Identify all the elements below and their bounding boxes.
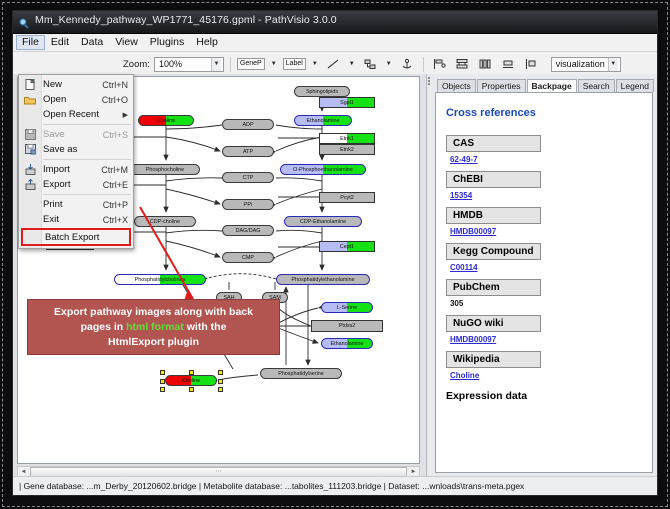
xref-value: 305 [450, 299, 652, 308]
visualization-value: visualization [556, 59, 605, 69]
new-file-icon [23, 79, 37, 91]
menu-item-label: Import [43, 164, 70, 175]
metabolite-node[interactable]: CTP [222, 172, 274, 183]
menu-item-save: SaveCtrl+S [19, 127, 133, 142]
visualization-combobox[interactable]: visualization ▼ [551, 57, 621, 72]
align-left-icon[interactable] [430, 55, 449, 74]
metabolite-node[interactable]: Phosphocholine [130, 164, 200, 175]
metabolite-node[interactable]: Ethanolamine [321, 338, 373, 349]
scroll-left-icon[interactable]: ◄ [18, 469, 29, 475]
distribute-icon[interactable] [476, 55, 495, 74]
node-label: Etnk1 [340, 136, 354, 142]
banner-line-2-pre: pages in [81, 321, 127, 333]
order-icon[interactable] [522, 55, 541, 74]
menu-help[interactable]: Help [190, 35, 224, 50]
menu-plugins[interactable]: Plugins [144, 35, 190, 50]
node-label: Phosphatidylethanolamine [291, 277, 354, 283]
metabolite-node[interactable]: CDP-Ethanolamine [284, 216, 362, 227]
anchor-tool-icon[interactable] [398, 55, 417, 74]
menu-item-label: Open Recent [43, 109, 99, 120]
menu-item-label: Exit [43, 214, 59, 225]
xref-cas: CAS62-49-7 [446, 133, 652, 164]
xref-link[interactable]: HMDB00097 [450, 335, 496, 344]
side-panel-tabs: Objects Properties Backpage Search Legen… [431, 78, 654, 92]
xref-hmdb: HMDBHMDB00097 [446, 205, 652, 236]
chevron-down-icon: ▼ [211, 58, 221, 71]
folder-open-icon [23, 94, 37, 106]
menu-item-export[interactable]: ExportCtrl+E [19, 177, 133, 192]
xref-kegg-compound: Kegg CompoundC00114 [446, 241, 652, 272]
banner-line-1: Export pathway images along with back [54, 306, 253, 318]
node-label: Ptdss2 [339, 323, 355, 329]
screenshot-frame: Mm_Kennedy_pathway_WP1771_45176.gpml - P… [0, 0, 670, 509]
cross-references-heading: Cross references [446, 107, 652, 119]
node-label: O-Phosphoethanolamine [293, 167, 353, 173]
zoom-combobox[interactable]: 100% ▼ [154, 57, 224, 72]
metabolite-node[interactable]: Phosphatidylserine [260, 368, 342, 379]
node-label: ATP [243, 149, 253, 155]
node-label: Cept1 [340, 244, 354, 250]
xref-name: NuGO wiki [446, 315, 541, 332]
expression-data-heading: Expression data [446, 390, 652, 402]
panel-drag-handle[interactable] [428, 76, 433, 88]
xref-name: Kegg Compound [446, 243, 541, 260]
node-label: CTP [243, 175, 254, 181]
scroll-right-icon[interactable]: ► [408, 469, 419, 475]
export-icon [23, 179, 37, 191]
menu-item-batch-export[interactable]: Batch Export [21, 228, 131, 246]
menu-item-print[interactable]: PrintCtrl+P [19, 197, 133, 212]
metabolite-node[interactable]: O-Phosphoethanolamine [280, 164, 366, 175]
cross-reference-list: CAS62-49-7ChEBI15354HMDBHMDB00097Kegg Co… [446, 133, 652, 380]
banner-line-3: HtmlExport plugin [108, 336, 199, 348]
xref-value[interactable]: 62-49-7 [450, 155, 652, 164]
menu-separator [43, 194, 131, 195]
menu-item-open-recent[interactable]: Open Recent▶ [19, 107, 133, 122]
datanode-dropdown-icon[interactable]: ▼ [269, 61, 279, 67]
metabolite-node[interactable]: CMP [222, 252, 274, 263]
import-icon [23, 164, 37, 176]
menu-item-label: New [43, 79, 62, 90]
xref-value[interactable]: C00114 [450, 263, 652, 272]
xref-name: PubChem [446, 279, 541, 296]
pathvisio-application-window: Mm_Kennedy_pathway_WP1771_45176.gpml - P… [12, 10, 658, 496]
node-label: Etnk2 [340, 147, 354, 153]
metabolite-node[interactable]: CDP-choline [134, 216, 196, 227]
menu-item-save-as[interactable]: Save as [19, 142, 133, 157]
line-tool-icon[interactable] [324, 55, 343, 74]
menu-item-accelerator: Ctrl+O [102, 95, 128, 105]
menu-item-label: Open [43, 94, 66, 105]
pathvisio-app-icon [19, 16, 30, 27]
side-panel: Objects Properties Backpage Search Legen… [427, 74, 657, 477]
banner-line-2-highlight: html format [126, 321, 184, 333]
node-label: Sgpl1 [340, 100, 354, 106]
menu-item-accelerator: Ctrl+S [103, 130, 128, 140]
xref-value[interactable]: HMDB00097 [450, 227, 652, 236]
window-title-text: Mm_Kennedy_pathway_WP1771_45176.gpml - P… [35, 14, 337, 26]
gene-node[interactable]: Ptdss2 [311, 320, 383, 332]
zoom-value: 100% [159, 59, 182, 69]
menu-separator [43, 159, 131, 160]
metabolite-node[interactable]: L-Serine [321, 302, 373, 313]
interaction-dropdown-icon[interactable]: ▼ [384, 61, 394, 67]
gene-node[interactable]: Etnk2 [319, 144, 375, 155]
xref-value[interactable]: Choline [450, 371, 652, 380]
menu-item-import[interactable]: ImportCtrl+M [19, 162, 133, 177]
menu-item-label: Print [43, 199, 63, 210]
menu-file[interactable]: File [16, 35, 45, 50]
submenu-arrow-icon: ▶ [123, 111, 128, 119]
node-label: Phosphatidylcholines [135, 277, 186, 283]
node-label: Phosphatidylserine [278, 371, 324, 377]
align-stack-icon[interactable] [453, 55, 472, 74]
xref-link[interactable]: C00114 [450, 263, 478, 272]
metabolite-node[interactable]: Phosphatidylethanolamine [276, 274, 370, 285]
gene-node[interactable]: Pcyt2 [319, 192, 375, 203]
backpage-content: Cross references CAS62-49-7ChEBI15354HMD… [435, 92, 653, 473]
window-title-bar: Mm_Kennedy_pathway_WP1771_45176.gpml - P… [13, 11, 657, 34]
save-disk-icon [23, 129, 37, 141]
gene-node[interactable]: Sgpl1 [319, 97, 375, 108]
xref-chebi: ChEBI15354 [446, 169, 652, 200]
file-menu-dropdown: NewCtrl+NOpenCtrl+OOpen Recent▶SaveCtrl+… [18, 74, 134, 249]
menu-data[interactable]: Data [75, 35, 109, 50]
tab-properties[interactable]: Properties [477, 79, 526, 92]
xref-name: HMDB [446, 207, 541, 224]
menu-item-label: Save [43, 129, 65, 140]
xref-link[interactable]: 15354 [450, 191, 472, 200]
zoom-label: Zoom: [123, 59, 150, 70]
node-label: CMP [242, 255, 254, 261]
xref-link[interactable]: Choline [450, 371, 479, 380]
menu-item-accelerator: Ctrl+P [103, 200, 128, 210]
menu-item-open[interactable]: OpenCtrl+O [19, 92, 133, 107]
tab-search[interactable]: Search [578, 79, 615, 92]
metabolite-node[interactable]: Phosphatidylcholines [114, 274, 206, 285]
xref-wikipedia: WikipediaCholine [446, 349, 652, 380]
label-dropdown-icon[interactable]: ▼ [310, 61, 320, 67]
selection-handles[interactable] [162, 372, 220, 389]
node-label: Ethanolamine [307, 118, 340, 124]
menu-item-accelerator: Ctrl+X [103, 215, 128, 225]
node-label: Phosphocholine [146, 167, 184, 173]
menu-item-accelerator: Ctrl+N [102, 80, 128, 90]
chevron-down-icon-2: ▼ [608, 58, 618, 71]
metabolite-node[interactable]: Ethanolamine [294, 115, 352, 126]
metabolite-node[interactable]: Sphingolipids [294, 86, 350, 97]
tab-objects[interactable]: Objects [437, 79, 476, 92]
node-label: ADP [242, 122, 253, 128]
menu-item-label: Save as [43, 144, 77, 155]
xref-name: Wikipedia [446, 351, 541, 368]
scrollbar-thumb[interactable]: ⋯ [30, 467, 407, 477]
menu-separator [43, 124, 131, 125]
annotation-banner: Export pathway images along with back pa… [27, 299, 280, 355]
menu-bar: File Edit Data View Plugins Help [13, 34, 657, 52]
file-menu-items: NewCtrl+NOpenCtrl+OOpen Recent▶SaveCtrl+… [19, 77, 133, 227]
line-dropdown-icon[interactable]: ▼ [347, 61, 357, 67]
toolbar-separator-2 [423, 57, 424, 72]
save-as-icon [23, 144, 37, 156]
metabolite-node[interactable]: PPi [222, 199, 274, 210]
xref-nugo-wiki: NuGO wikiHMDB00097 [446, 313, 652, 344]
node-label: CDP-Ethanolamine [300, 219, 346, 225]
metabolite-node[interactable]: ATP [222, 146, 274, 157]
xref-value[interactable]: 15354 [450, 191, 652, 200]
xref-name: CAS [446, 135, 541, 152]
node-label: Pcyt2 [340, 195, 353, 201]
group-icon[interactable] [499, 55, 518, 74]
node-label: L-Serine [337, 305, 357, 311]
xref-name: ChEBI [446, 171, 541, 188]
status-bar-text: | Gene database: ...m_Derby_20120602.bri… [19, 481, 524, 491]
metabolite-node[interactable]: Choline [138, 115, 194, 126]
metabolite-node[interactable]: DAG/DAG [222, 225, 274, 236]
node-label: Ethanolamine [331, 341, 364, 347]
node-label: DAG/DAG [236, 228, 261, 234]
tab-legend[interactable]: Legend [616, 79, 654, 92]
xref-link[interactable]: HMDB00097 [450, 227, 496, 236]
menu-item-accelerator: Ctrl+E [103, 180, 128, 190]
menu-item-exit[interactable]: ExitCtrl+X [19, 212, 133, 227]
node-label: PPi [244, 202, 252, 208]
node-label: Choline [157, 118, 175, 124]
label-tool-button[interactable]: Label [283, 58, 306, 70]
interaction-tool-icon[interactable] [361, 55, 380, 74]
status-bar: | Gene database: ...m_Derby_20120602.bri… [13, 476, 657, 495]
tab-backpage[interactable]: Backpage [527, 79, 577, 93]
datanode-tool-button[interactable]: GeneP [237, 58, 265, 70]
xref-pubchem: PubChem305 [446, 277, 652, 308]
banner-line-2-post: with the [184, 321, 227, 333]
xref-link[interactable]: 62-49-7 [450, 155, 478, 164]
menu-item-new[interactable]: NewCtrl+N [19, 77, 133, 92]
node-label: Sphingolipids [306, 89, 338, 95]
menu-item-accelerator: Ctrl+M [101, 165, 128, 175]
menu-edit[interactable]: Edit [45, 35, 75, 50]
metabolite-node[interactable]: ADP [222, 119, 274, 130]
menu-view[interactable]: View [109, 35, 144, 50]
node-label: CDP-choline [150, 219, 180, 225]
toolbar-separator [230, 57, 231, 72]
gene-node[interactable]: Etnk1 [319, 133, 375, 144]
xref-value[interactable]: HMDB00097 [450, 335, 652, 344]
gene-node[interactable]: Cept1 [319, 241, 375, 252]
menu-item-label: Export [43, 179, 70, 190]
